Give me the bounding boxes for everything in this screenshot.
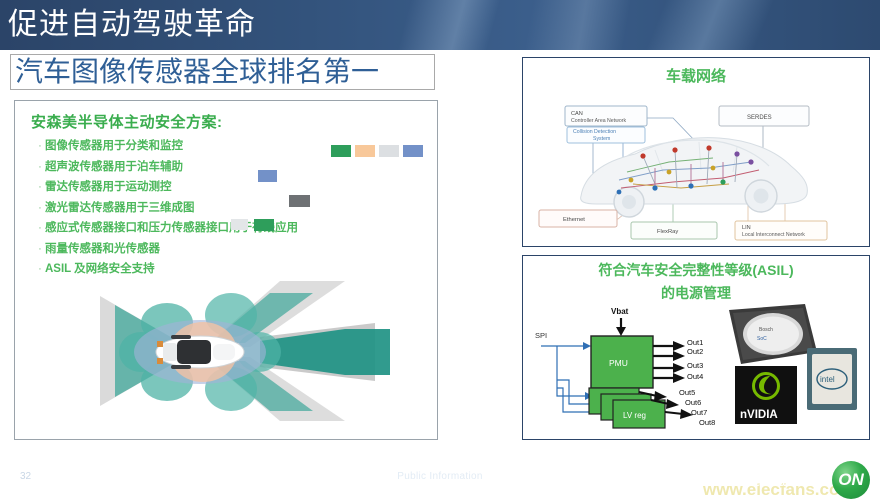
on-mark-text: ON	[832, 461, 870, 499]
legend-swatch-row	[331, 145, 423, 157]
solutions-panel: 安森美半导体主动安全方案: · 图像传感器用于分类和监控 · 超声波传感器用于泊…	[14, 100, 438, 440]
spi-label: SPI	[535, 331, 547, 340]
on-semiconductor-logo: www.elecfans.com 安森美半导体 ON Semiconductor…	[697, 460, 872, 500]
svg-text:FlexRay: FlexRay	[657, 229, 678, 235]
label-flexray: FlexRay	[631, 222, 717, 239]
svg-text:Out7: Out7	[691, 408, 707, 417]
subtitle-box: 汽车图像传感器全球排名第一	[10, 54, 435, 90]
svg-text:LIN: LIN	[742, 225, 751, 231]
swatch-blue-inline	[258, 170, 277, 182]
bga-chip: Bosch SoC	[729, 304, 817, 364]
bullet-dot-icon: ·	[35, 139, 45, 154]
slide-root: 促进自动驾驶革命 汽车图像传感器全球排名第一 安森美半导体主动安全方案: · 图…	[0, 0, 880, 502]
logo-chinese-text: 安森美半导体	[738, 464, 810, 477]
panel-heading: 安森美半导体主动安全方案:	[31, 111, 223, 132]
list-item: · 雷达传感器用于运动测控	[35, 180, 431, 195]
svg-text:Out5: Out5	[679, 388, 695, 397]
sensor-coverage-diagram	[45, 271, 435, 431]
svg-text:Collision Detection: Collision Detection	[573, 129, 616, 135]
list-item-label: 图像传感器用于分类和监控	[45, 139, 183, 154]
svg-text:nVIDIA: nVIDIA	[740, 409, 778, 421]
power-panel-title-line1: 符合汽车安全完整性等级(ASIL)	[523, 262, 869, 279]
swatch-green	[331, 145, 351, 157]
swatch-orange	[355, 145, 375, 157]
subtitle-text: 汽车图像传感器全球排名第一	[15, 55, 379, 89]
list-item-label: 激光雷达传感器用于三维成图	[45, 201, 195, 216]
svg-text:Ethernet: Ethernet	[563, 217, 585, 223]
label-lin: LIN Local Interconnect Network	[735, 221, 827, 240]
svg-text:SoC: SoC	[757, 336, 767, 342]
swatch-pale-inline	[231, 219, 248, 230]
label-collision: Collision Detection System	[567, 127, 645, 143]
car-ghost	[581, 138, 808, 217]
svg-text:Out8: Out8	[699, 418, 715, 427]
nvidia-chip: nVIDIA	[735, 366, 797, 424]
bullet-dot-icon: ·	[35, 201, 45, 216]
vbat-label: Vbat	[611, 307, 629, 316]
svg-text:intel: intel	[820, 375, 835, 384]
list-item: · 雨量传感器和光传感器	[35, 242, 431, 257]
list-item-label: 雨量传感器和光传感器	[45, 242, 160, 257]
label-can: CAN Controller Area Network	[565, 106, 647, 126]
slide-footer: 32 Public Information www.elecfans.com 安…	[0, 455, 880, 502]
svg-text:Controller Area Network: Controller Area Network	[571, 118, 626, 124]
list-item-label: 雷达传感器用于运动测控	[45, 180, 172, 195]
slide-header: 促进自动驾驶革命	[0, 0, 880, 50]
list-item: · 超声波传感器用于泊车辅助	[35, 160, 431, 175]
bullet-list: · 图像传感器用于分类和监控 · 超声波传感器用于泊车辅助 · 雷达传感器用于运…	[35, 139, 431, 283]
swatch-light-gray	[379, 145, 399, 157]
swatch-gray-inline	[289, 195, 310, 207]
list-item-label: 超声波传感器用于泊车辅助	[45, 160, 183, 175]
svg-text:Bosch: Bosch	[759, 327, 773, 333]
bullet-dot-icon: ·	[35, 262, 45, 277]
svg-text:Out1: Out1	[687, 338, 703, 347]
label-ethernet: Ethernet	[539, 210, 617, 227]
on-circle-icon: ON	[832, 461, 870, 499]
swatch-green-inline	[254, 219, 274, 231]
svg-text:System: System	[593, 136, 610, 142]
network-panel: 车载网络	[522, 57, 870, 247]
svg-text:Out2: Out2	[687, 347, 703, 356]
intel-chip: intel	[807, 348, 857, 410]
svg-text:Out3: Out3	[687, 361, 703, 370]
power-management-diagram: SPI Vbat PMU Out1 Out2 Out3	[523, 300, 869, 438]
bullet-dot-icon: ·	[35, 242, 45, 257]
lvreg-label: LV reg	[623, 411, 646, 420]
bullet-dot-icon: ·	[35, 180, 45, 195]
bullet-dot-icon: ·	[35, 160, 45, 175]
bullet-dot-icon: ·	[35, 221, 45, 236]
svg-text:Local Interconnect Network: Local Interconnect Network	[742, 232, 805, 238]
svg-text:Out6: Out6	[685, 398, 701, 407]
car-top-view	[156, 335, 244, 369]
svg-text:Out4: Out4	[687, 372, 703, 381]
network-panel-title: 车载网络	[523, 65, 869, 86]
power-panel: 符合汽车安全完整性等级(ASIL) 的电源管理 SPI Vbat	[522, 255, 870, 440]
svg-text:CAN: CAN	[571, 111, 583, 117]
pmu-label: PMU	[609, 358, 628, 368]
page-title: 促进自动驾驶革命	[8, 4, 256, 46]
in-vehicle-network-diagram: CAN Controller Area Network Collision De…	[523, 84, 869, 244]
label-serdes: SERDES	[719, 106, 809, 126]
list-item: · 激光雷达传感器用于三维成图	[35, 201, 431, 216]
logo-english-text: ON Semiconductor	[729, 477, 824, 489]
svg-text:SERDES: SERDES	[747, 115, 772, 121]
swatch-blue	[403, 145, 423, 157]
